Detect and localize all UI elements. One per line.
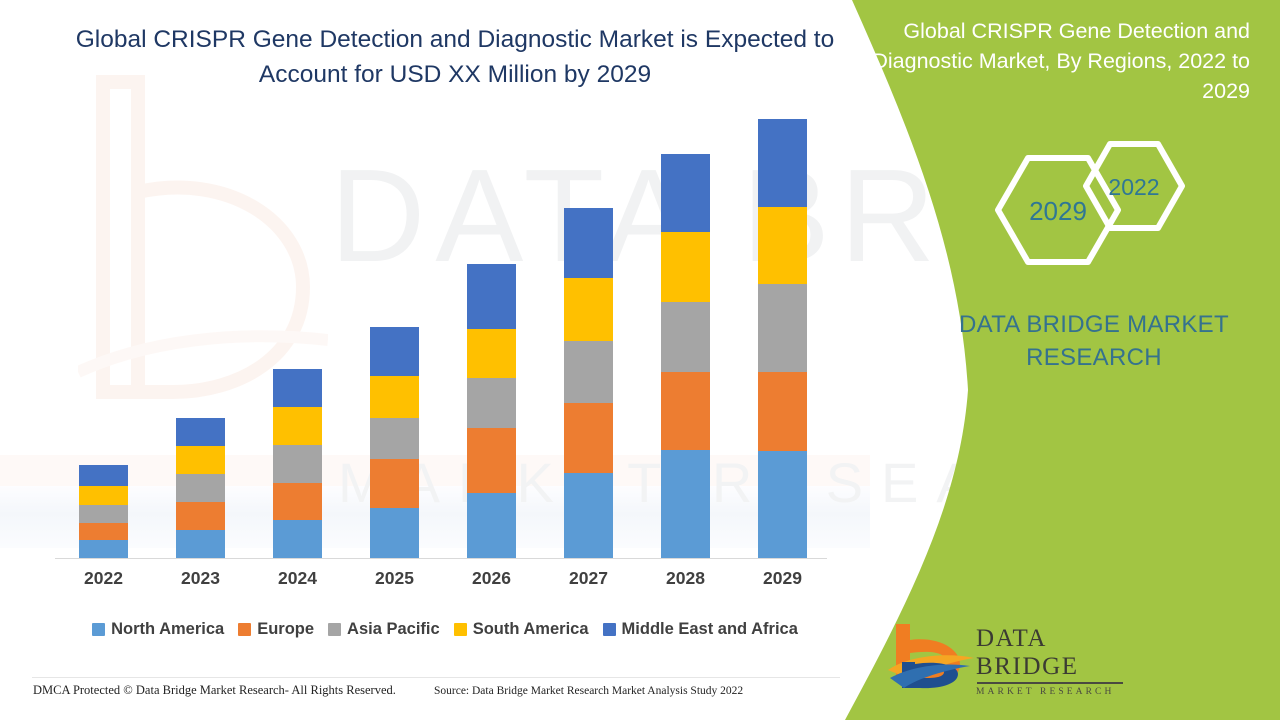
bar-segment <box>564 341 613 403</box>
chart-plot-area <box>55 120 835 559</box>
legend-swatch-icon <box>454 623 467 636</box>
brand-name: DATA BRIDGE MARKET RESEARCH <box>944 308 1244 374</box>
x-axis-label-2024: 2024 <box>263 568 333 589</box>
page-title: Global CRISPR Gene Detection and Diagnos… <box>60 22 850 92</box>
legend-label: South America <box>473 620 589 639</box>
chart-x-axis-labels: 20222023202420252026202720282029 <box>55 568 835 598</box>
bar-segment <box>467 329 516 379</box>
bar-segment <box>79 465 128 486</box>
footer-divider <box>32 677 840 678</box>
hexagon-label-2022: 2022 <box>1108 174 1159 200</box>
logo-underline <box>977 682 1123 684</box>
bar-2022[interactable] <box>79 465 128 558</box>
legend-swatch-icon <box>238 623 251 636</box>
bar-segment <box>661 372 710 450</box>
bar-segment <box>176 474 225 502</box>
bar-segment <box>661 450 710 558</box>
bar-segment <box>370 327 419 377</box>
bar-2023[interactable] <box>176 418 225 558</box>
brand-panel: Global CRISPR Gene Detection and Diagnos… <box>760 0 1280 720</box>
bar-segment <box>79 486 128 505</box>
bar-segment <box>176 446 225 474</box>
legend-label: Asia Pacific <box>347 620 440 639</box>
bar-segment <box>273 407 322 445</box>
bar-segment <box>370 376 419 417</box>
footer-copyright: DMCA Protected © Data Bridge Market Rese… <box>33 683 396 698</box>
bar-segment <box>564 208 613 278</box>
bar-segment <box>661 154 710 232</box>
bar-segment <box>467 378 516 428</box>
legend-item[interactable]: South America <box>454 620 589 639</box>
x-axis-label-2023: 2023 <box>166 568 236 589</box>
legend-item[interactable]: Europe <box>238 620 314 639</box>
legend-item[interactable]: North America <box>92 620 224 639</box>
x-axis-label-2022: 2022 <box>69 568 139 589</box>
bar-segment <box>79 523 128 541</box>
bar-segment <box>273 483 322 521</box>
x-axis-label-2025: 2025 <box>360 568 430 589</box>
x-axis-label-2026: 2026 <box>457 568 527 589</box>
bar-segment <box>370 459 419 509</box>
stacked-bar-chart <box>55 120 835 560</box>
footer-source: Source: Data Bridge Market Research Mark… <box>434 685 743 697</box>
bar-segment <box>467 493 516 558</box>
bar-segment <box>176 418 225 446</box>
bar-segment <box>467 428 516 493</box>
bar-segment <box>661 232 710 302</box>
bar-2025[interactable] <box>370 327 419 558</box>
legend-swatch-icon <box>328 623 341 636</box>
chart-legend: North AmericaEuropeAsia PacificSouth Ame… <box>60 617 830 641</box>
bar-segment <box>564 278 613 340</box>
chart-baseline-axis <box>55 558 827 559</box>
bar-segment <box>564 403 613 473</box>
hexagon-label-2029: 2029 <box>1029 196 1087 226</box>
bar-segment <box>661 302 710 372</box>
logo-text-block: DATA BRIDGE MARKET RESEARCH <box>976 625 1138 698</box>
bar-segment <box>79 540 128 558</box>
bar-2024[interactable] <box>273 369 322 558</box>
infographic-root: DATA BRIDGE MARKET RESEARCH Global CRISP… <box>0 0 1280 720</box>
bar-segment <box>176 530 225 558</box>
bar-segment <box>370 508 419 558</box>
legend-swatch-icon <box>92 623 105 636</box>
bar-2026[interactable] <box>467 264 516 558</box>
bar-2027[interactable] <box>564 208 613 558</box>
logo-title: DATA BRIDGE <box>976 625 1138 681</box>
databridge-logo: DATA BRIDGE MARKET RESEARCH <box>888 620 1138 692</box>
bar-segment <box>273 369 322 407</box>
legend-label: Europe <box>257 620 314 639</box>
bar-segment <box>370 418 419 459</box>
bar-segment <box>564 473 613 558</box>
hexagon-badges: 2029 2022 <box>980 138 1190 283</box>
databridge-b-logo-icon <box>888 622 974 690</box>
legend-label: North America <box>111 620 224 639</box>
panel-title: Global CRISPR Gene Detection and Diagnos… <box>850 16 1250 106</box>
x-axis-label-2028: 2028 <box>651 568 721 589</box>
logo-subtitle: MARKET RESEARCH <box>976 686 1138 698</box>
bar-segment <box>273 520 322 558</box>
bar-2028[interactable] <box>661 154 710 558</box>
bar-segment <box>273 445 322 483</box>
bar-segment <box>467 264 516 329</box>
bar-segment <box>176 502 225 530</box>
legend-swatch-icon <box>603 623 616 636</box>
x-axis-label-2027: 2027 <box>554 568 624 589</box>
bar-segment <box>79 505 128 523</box>
legend-item[interactable]: Asia Pacific <box>328 620 440 639</box>
